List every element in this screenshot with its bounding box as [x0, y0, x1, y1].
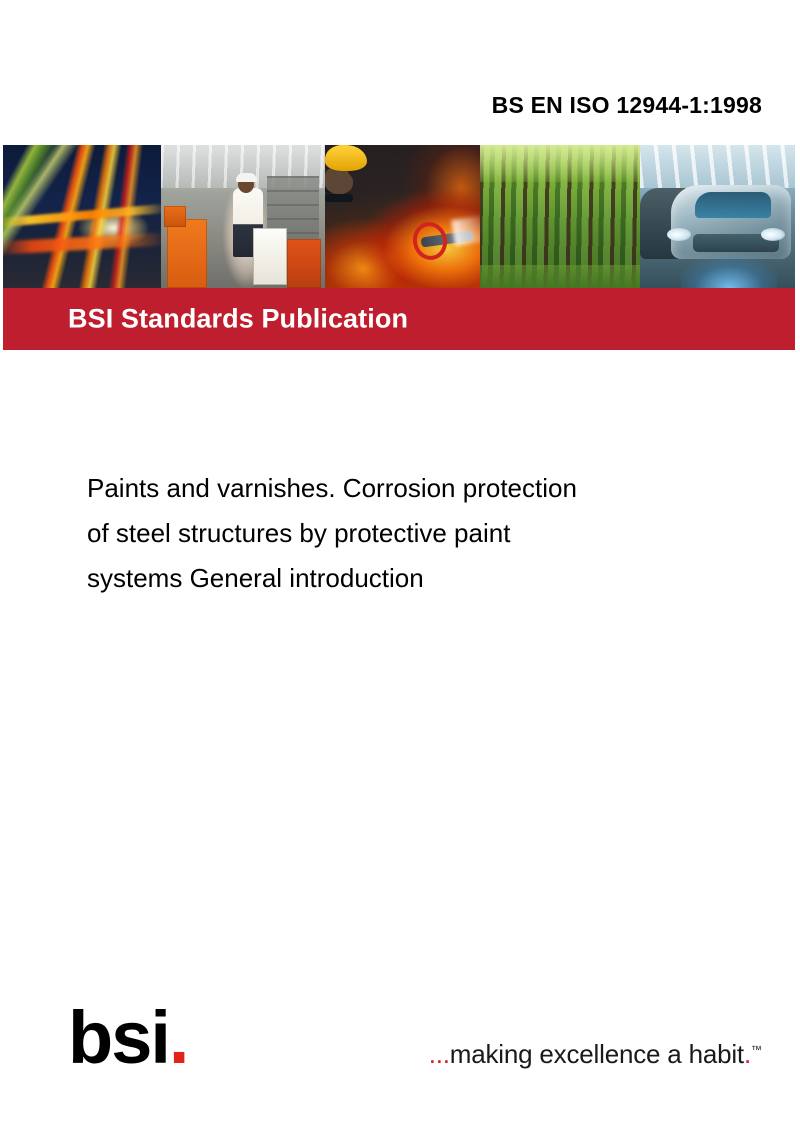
warehouse-crate	[287, 239, 321, 288]
standard-number: BS EN ISO 12944-1:1998	[492, 92, 762, 119]
photo-panel-firefighters	[325, 145, 480, 288]
photo-panel-car-assembly	[640, 145, 795, 288]
car-headlamp	[761, 228, 785, 241]
bsi-logo-dot: .	[169, 996, 188, 1079]
forest-floor	[480, 265, 640, 288]
warehouse-crate	[167, 219, 207, 288]
bsi-logo: bsi.	[68, 1001, 187, 1075]
photo-panel-traffic-light-trails	[3, 145, 161, 288]
tagline-leading-ellipsis: ...	[429, 1039, 450, 1069]
trademark-icon: ™	[751, 1044, 762, 1056]
forest-canopy	[480, 145, 640, 182]
car-windshield	[695, 192, 771, 218]
title-line-1: Paints and varnishes. Corrosion protecti…	[87, 466, 747, 511]
photo-panel-forest	[480, 145, 640, 288]
photo-panel-warehouse-worker	[161, 145, 325, 288]
factory-ceiling-lights	[640, 145, 795, 188]
cover-photo-strip	[3, 145, 795, 288]
firefighter-front	[325, 145, 391, 202]
tagline-text: making excellence a habit	[450, 1039, 744, 1069]
title-line-3: systems General introduction	[87, 556, 747, 601]
warehouse-box	[253, 228, 287, 285]
tagline-period: .	[744, 1039, 751, 1069]
warehouse-worker-cap	[236, 173, 257, 182]
firefighter-visor	[325, 194, 353, 202]
document-title: Paints and varnishes. Corrosion protecti…	[87, 466, 747, 601]
assembly-line-floor-glow	[681, 257, 777, 288]
title-line-2: of steel structures by protective paint	[87, 511, 747, 556]
warehouse-crate	[164, 206, 186, 226]
bsi-logo-text: bsi	[68, 996, 169, 1079]
firefighter-face	[325, 171, 353, 194]
firefighter-helmet	[325, 145, 367, 171]
car-headlamp	[667, 228, 691, 241]
water-jet	[451, 214, 480, 246]
bsi-tagline: ...making excellence a habit.™	[429, 1039, 762, 1070]
publisher-banner-label: BSI Standards Publication	[68, 304, 408, 335]
fire-hose-nozzle	[409, 219, 450, 263]
publisher-banner: BSI Standards Publication	[3, 288, 795, 350]
